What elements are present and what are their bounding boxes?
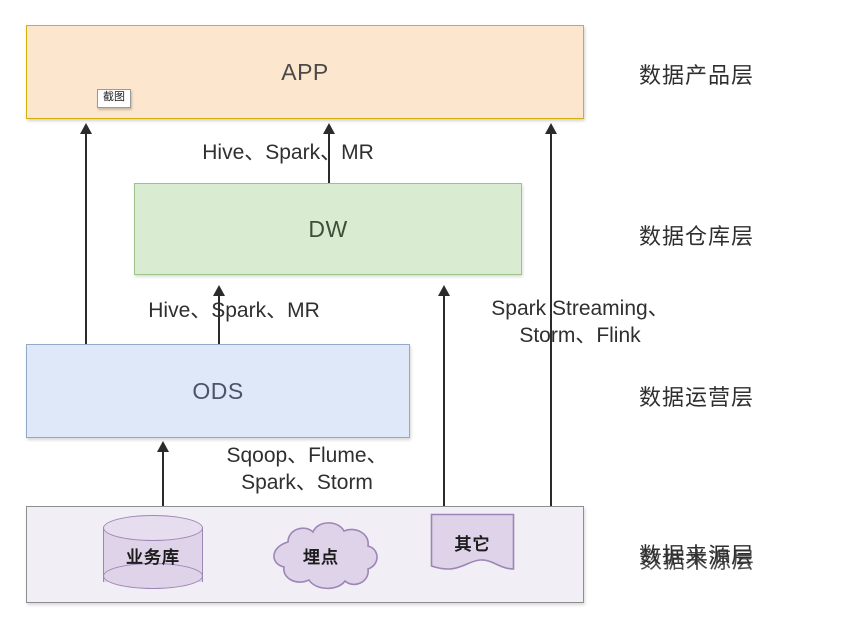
side-label-data-operation: 数据运营层 <box>639 380 754 412</box>
layer-box-ods[interactable]: ODS <box>26 344 410 438</box>
side-label-data-source-ghost: 数据来源层 <box>640 543 755 575</box>
layer-label-ods: ODS <box>192 378 243 405</box>
edge-label-dw-to-app: Hive、Spark、MR <box>172 140 404 167</box>
source-label-tracking: 埋点 <box>258 518 384 592</box>
source-shape-other[interactable]: 其它 <box>430 513 515 579</box>
edge-label-source-to-ods: Sqoop、Flume、 Spark、Storm <box>205 443 409 497</box>
screenshot-tooltip[interactable]: 截图 <box>97 89 131 108</box>
source-shape-business-db[interactable]: 业务库 <box>103 519 203 591</box>
arrow-ods-to-app <box>85 132 87 344</box>
layer-label-app: APP <box>281 59 329 86</box>
architecture-diagram: APP DW ODS 业务库 埋点 其它 Hive、Spark、MR Hive、… <box>0 0 861 622</box>
edge-label-ods-to-dw: Hive、Spark、MR <box>118 298 350 325</box>
arrow-source-to-ods <box>162 450 164 506</box>
arrow-source-to-dw <box>443 294 445 506</box>
edge-label-source-to-app-streaming: Spark Streaming、 Storm、Flink <box>472 296 688 350</box>
layer-label-dw: DW <box>308 216 347 243</box>
side-label-data-product: 数据产品层 <box>639 58 754 90</box>
source-shape-tracking[interactable]: 埋点 <box>258 518 384 592</box>
side-label-data-warehouse: 数据仓库层 <box>639 219 754 251</box>
layer-box-dw[interactable]: DW <box>134 183 522 275</box>
source-label-business-db: 业务库 <box>126 543 180 568</box>
source-label-other: 其它 <box>430 513 515 571</box>
cylinder-top-ellipse <box>103 515 203 541</box>
